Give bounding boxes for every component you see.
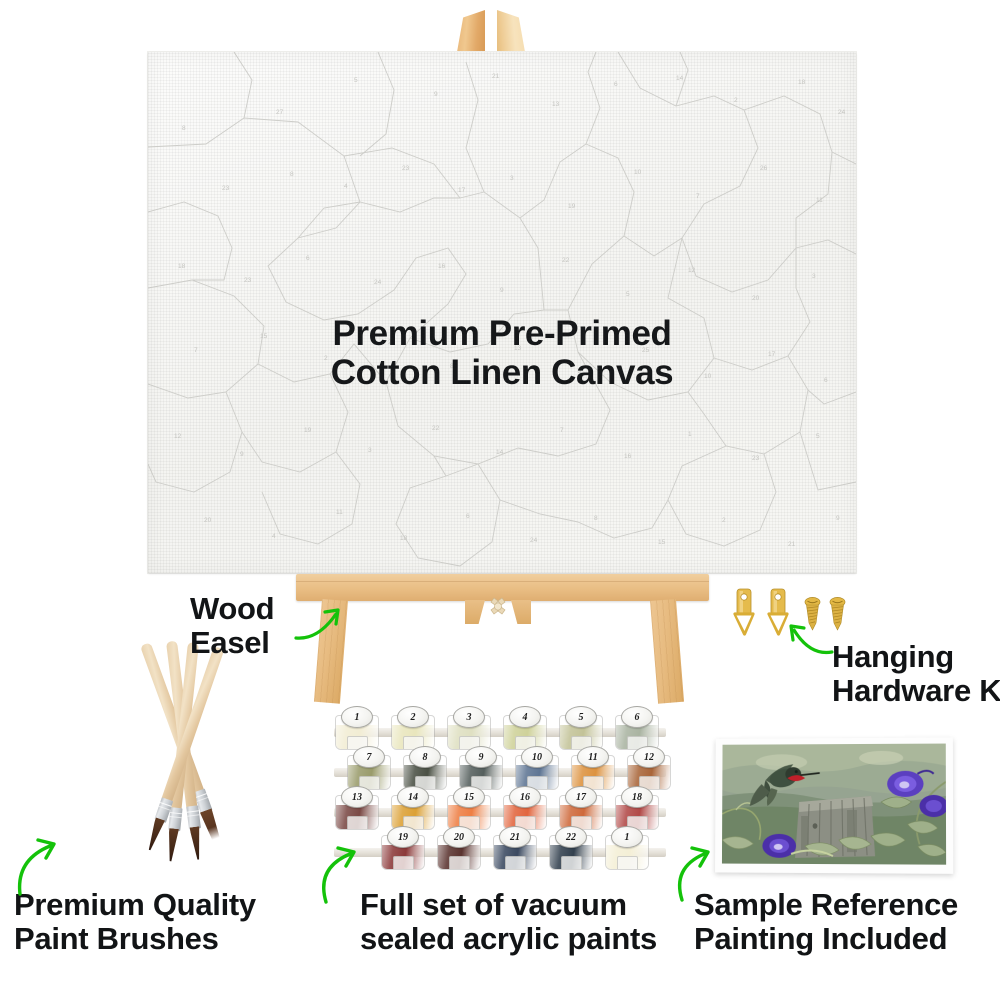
paint-pot-lid-label: 12: [633, 746, 665, 768]
paint-pot-16: 16: [500, 786, 550, 830]
paint-pot-lid-label: 3: [453, 706, 485, 728]
paint-pot-lid-label: 8: [409, 746, 441, 768]
svg-text:14: 14: [676, 75, 684, 82]
paint-pot-lid-label: 10: [521, 746, 553, 768]
svg-text:15: 15: [658, 539, 666, 546]
paint-pot-6: 6: [612, 706, 662, 750]
svg-text:8: 8: [290, 171, 294, 178]
svg-text:9: 9: [240, 451, 244, 458]
paint-brushes-group: [48, 636, 288, 876]
label-reference-painting-line2: Painting Included: [694, 922, 958, 956]
label-hanging-hardware-line1: Hanging: [832, 640, 1000, 674]
screw-2: [829, 597, 846, 631]
easel-leg-left: [314, 599, 348, 704]
label-wood-easel: Wood Easel: [190, 592, 274, 660]
svg-text:3: 3: [510, 175, 514, 182]
paint-pot-tab: [393, 856, 414, 869]
acrylic-paint-pots-group: 123456789101112131415161718192021221: [330, 706, 670, 866]
label-hanging-hardware-line2: Hardware Kit: [832, 674, 1000, 708]
svg-text:23: 23: [222, 185, 230, 192]
paint-pot-lid-label: 6: [621, 706, 653, 728]
svg-text:7: 7: [560, 427, 564, 434]
paint-pot-5: 5: [556, 706, 606, 750]
paint-pot-10: 10: [512, 746, 562, 790]
svg-text:26: 26: [760, 165, 768, 172]
paint-pot-tab: [617, 856, 638, 869]
svg-text:23: 23: [244, 277, 252, 284]
paint-pot-17: 17: [556, 786, 606, 830]
svg-text:1: 1: [688, 431, 692, 438]
paint-pot-lid-label: 19: [387, 826, 419, 848]
svg-text:18: 18: [400, 535, 408, 542]
svg-text:20: 20: [752, 295, 760, 302]
svg-text:9: 9: [434, 91, 438, 98]
paint-pot-lid-label: 7: [353, 746, 385, 768]
svg-text:13: 13: [552, 101, 560, 108]
svg-text:8: 8: [594, 515, 598, 522]
svg-text:11: 11: [336, 509, 343, 516]
label-paint-brushes: Premium Quality Paint Brushes: [14, 888, 256, 956]
paint-pot-15: 15: [444, 786, 494, 830]
svg-text:27: 27: [276, 109, 284, 116]
paint-pot-18: 18: [612, 786, 662, 830]
label-reference-painting: Sample Reference Painting Included: [694, 888, 958, 956]
svg-text:12: 12: [174, 433, 182, 440]
svg-text:4: 4: [344, 183, 348, 190]
svg-text:12: 12: [688, 267, 696, 274]
paint-pot-lid-label: 17: [565, 786, 597, 808]
hanging-hardware-group: [728, 588, 848, 646]
svg-text:24: 24: [374, 279, 382, 286]
paint-pot-tab: [505, 856, 526, 869]
paint-pot-lid-label: 15: [453, 786, 485, 808]
paint-pot-22: 22: [546, 826, 596, 870]
paint-pot-tab: [449, 856, 470, 869]
svg-text:24: 24: [838, 109, 846, 116]
canvas-numbered-outline: 8275 92113 6142 1824 2384 23173 19107 26…: [148, 52, 856, 573]
paint-pot-8: 8: [400, 746, 450, 790]
paint-pot-lid-label: 1: [341, 706, 373, 728]
easel-top-post-right: [497, 10, 525, 52]
paint-pot-9: 9: [456, 746, 506, 790]
svg-text:21: 21: [492, 73, 500, 80]
svg-text:20: 20: [204, 517, 212, 524]
svg-text:22: 22: [432, 425, 440, 432]
label-reference-painting-line1: Sample Reference: [694, 888, 958, 922]
paint-pot-lid-label: 1: [611, 826, 643, 848]
svg-text:9: 9: [500, 287, 504, 294]
paint-pot-tab: [347, 816, 368, 829]
svg-text:16: 16: [624, 453, 632, 460]
label-acrylic-paints: Full set of vacuum sealed acrylic paints: [360, 888, 657, 956]
svg-text:19: 19: [568, 203, 576, 210]
label-hanging-hardware: Hanging Hardware Kit: [832, 640, 1000, 708]
svg-text:5: 5: [816, 433, 820, 440]
paint-pot-13: 13: [332, 786, 382, 830]
svg-text:5: 5: [626, 291, 630, 298]
paint-pot-lid-label: 16: [509, 786, 541, 808]
paint-pot-3: 3: [444, 706, 494, 750]
paint-pot-lid-label: 20: [443, 826, 475, 848]
label-paint-brushes-line1: Premium Quality: [14, 888, 256, 922]
paint-pot-lid-label: 9: [465, 746, 497, 768]
svg-text:16: 16: [438, 263, 446, 270]
paint-pot-21: 21: [490, 826, 540, 870]
svg-text:17: 17: [458, 187, 466, 194]
label-wood-easel-line1: Wood: [190, 592, 274, 626]
svg-text:3: 3: [812, 273, 816, 280]
paint-pot-12: 12: [624, 746, 674, 790]
easel-top-post-left: [457, 10, 485, 52]
svg-text:4: 4: [272, 533, 276, 540]
paint-pot-lid-label: 22: [555, 826, 587, 848]
label-paint-brushes-line2: Paint Brushes: [14, 922, 256, 956]
paint-pot-lid-label: 2: [397, 706, 429, 728]
svg-text:2: 2: [734, 97, 738, 104]
svg-text:3: 3: [368, 447, 372, 454]
svg-text:6: 6: [466, 513, 470, 520]
svg-text:9: 9: [836, 515, 840, 522]
paint-pot-lid-label: 5: [565, 706, 597, 728]
paint-pot-lid-label: 11: [577, 746, 609, 768]
paint-pot-20: 20: [434, 826, 484, 870]
svg-text:8: 8: [182, 125, 186, 132]
svg-text:2: 2: [722, 517, 726, 524]
paint-pot-lid-label: 21: [499, 826, 531, 848]
svg-text:10: 10: [634, 169, 642, 176]
canvas-headline-line1: Premium Pre-Primed: [148, 314, 856, 353]
paint-pot-tab: [561, 856, 582, 869]
svg-text:21: 21: [788, 541, 796, 548]
svg-text:18: 18: [178, 263, 186, 270]
paint-pot-1: 1: [332, 706, 382, 750]
label-acrylic-paints-line1: Full set of vacuum: [360, 888, 657, 922]
svg-text:14: 14: [496, 449, 504, 456]
canvas-headline: Premium Pre-Primed Cotton Linen Canvas: [148, 314, 856, 392]
svg-text:6: 6: [306, 255, 310, 262]
d-ring-hanger-2: [766, 588, 790, 640]
paint-pot-11: 11: [568, 746, 618, 790]
paint-pot-7: 7: [344, 746, 394, 790]
canvas-headline-line2: Cotton Linen Canvas: [148, 353, 856, 392]
easel-center-brace-left: [465, 600, 485, 624]
svg-text:18: 18: [798, 79, 806, 86]
paint-pot-14: 14: [388, 786, 438, 830]
paint-pot-19: 19: [378, 826, 428, 870]
svg-text:5: 5: [354, 77, 358, 84]
label-acrylic-paints-line2: sealed acrylic paints: [360, 922, 657, 956]
svg-text:23: 23: [752, 455, 760, 462]
reference-painting-artwork: [722, 744, 946, 865]
svg-text:11: 11: [816, 197, 823, 204]
paint-pot-4: 4: [500, 706, 550, 750]
easel-wing-nut: [487, 597, 509, 619]
screw-1: [804, 597, 821, 631]
svg-text:22: 22: [562, 257, 570, 264]
svg-text:24: 24: [530, 537, 538, 544]
svg-text:19: 19: [304, 427, 312, 434]
product-infographic: 8275 92113 6142 1824 2384 23173 19107 26…: [0, 0, 1000, 1000]
easel-leg-right: [650, 599, 684, 704]
paint-pot-2: 2: [388, 706, 438, 750]
paint-pot-lid-label: 13: [341, 786, 373, 808]
svg-text:6: 6: [614, 81, 618, 88]
paint-pot-lid-label: 14: [397, 786, 429, 808]
paint-pot-lid-label: 4: [509, 706, 541, 728]
d-ring-hanger-1: [732, 588, 756, 640]
sample-reference-painting: [715, 737, 953, 873]
paint-by-numbers-canvas: 8275 92113 6142 1824 2384 23173 19107 26…: [148, 52, 856, 573]
paint-pot-1: 1: [602, 826, 652, 870]
label-wood-easel-line2: Easel: [190, 626, 274, 660]
svg-text:23: 23: [402, 165, 410, 172]
paint-pot-lid-label: 18: [621, 786, 653, 808]
svg-text:7: 7: [696, 193, 700, 200]
easel-center-brace-right: [511, 600, 531, 624]
